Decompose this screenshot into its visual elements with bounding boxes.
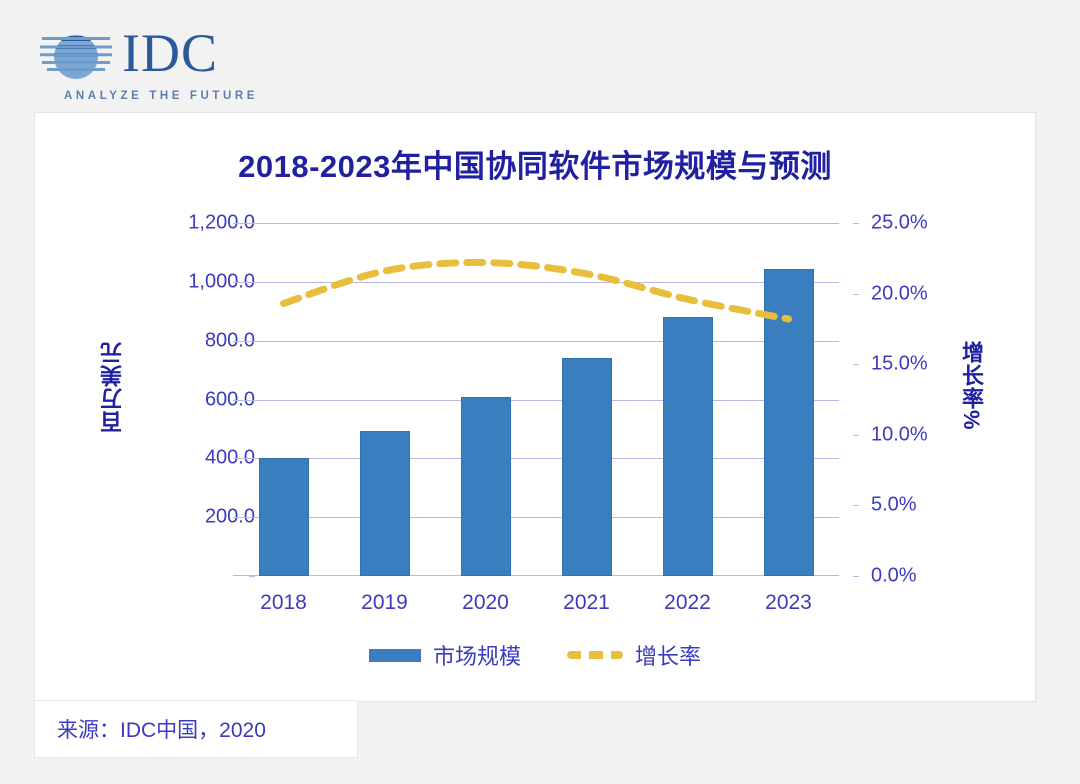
legend-item-market-size[interactable]: 市场规模 bbox=[369, 639, 521, 671]
source-box: 来源：IDC中国，2020 bbox=[34, 700, 358, 758]
legend-item-growth-rate[interactable]: 增长率 bbox=[567, 639, 701, 671]
chart-legend: 市场规模 增长率 bbox=[35, 639, 1035, 671]
x-axis-tick-label: 2020 bbox=[431, 591, 541, 615]
legend-dashed-line-swatch-icon bbox=[567, 651, 623, 659]
y-axis-right-tick-label: 5.0% bbox=[871, 494, 917, 517]
y-axis-tick-mark bbox=[853, 294, 859, 295]
y-axis-title-left: 百万美元 bbox=[97, 341, 129, 433]
y-axis-right-tick-label: 10.0% bbox=[871, 423, 928, 446]
legend-bar-swatch-icon bbox=[369, 649, 421, 662]
idc-logo: IDC ANALYZE THE FUTURE bbox=[34, 22, 274, 108]
growth-rate-line-layer bbox=[233, 223, 839, 576]
chart-title: 2018-2023年中国协同软件市场规模与预测 bbox=[35, 141, 1035, 186]
idc-globe-icon bbox=[40, 26, 112, 88]
y-axis-right-tick-label: 25.0% bbox=[871, 212, 928, 235]
logo-wordmark: IDC bbox=[122, 20, 218, 86]
x-axis-tick-label: 2019 bbox=[330, 591, 440, 615]
y-axis-tick-mark bbox=[853, 364, 859, 365]
x-axis-tick-label: 2022 bbox=[633, 591, 743, 615]
y-axis-right-ticks: 0.0%5.0%10.0%15.0%20.0%25.0% bbox=[853, 223, 973, 576]
x-axis-tick-label: 2018 bbox=[229, 591, 339, 615]
slide-root: IDC ANALYZE THE FUTURE 2018-2023年中国协同软件市… bbox=[0, 0, 1080, 784]
plot-area bbox=[233, 223, 839, 576]
legend-label-market-size: 市场规模 bbox=[433, 639, 521, 671]
x-axis-tick-label: 2023 bbox=[734, 591, 844, 615]
x-axis-tick-label: 2021 bbox=[532, 591, 642, 615]
y-axis-right-tick-label: 20.0% bbox=[871, 282, 928, 305]
y-axis-right-tick-label: 15.0% bbox=[871, 353, 928, 376]
source-text: 来源：IDC中国，2020 bbox=[57, 714, 266, 744]
y-axis-right-tick-label: 0.0% bbox=[871, 565, 917, 588]
logo-tagline: ANALYZE THE FUTURE bbox=[64, 90, 258, 102]
y-axis-tick-mark bbox=[853, 435, 859, 436]
y-axis-tick-mark bbox=[853, 576, 859, 577]
legend-label-growth-rate: 增长率 bbox=[635, 639, 701, 671]
y-axis-tick-mark bbox=[853, 223, 859, 224]
growth-rate-line[interactable] bbox=[284, 262, 789, 319]
y-axis-tick-mark bbox=[249, 576, 255, 577]
y-axis-tick-mark bbox=[853, 505, 859, 506]
chart-card: 2018-2023年中国协同软件市场规模与预测 百万美元 增长率% -200.0… bbox=[34, 112, 1036, 702]
